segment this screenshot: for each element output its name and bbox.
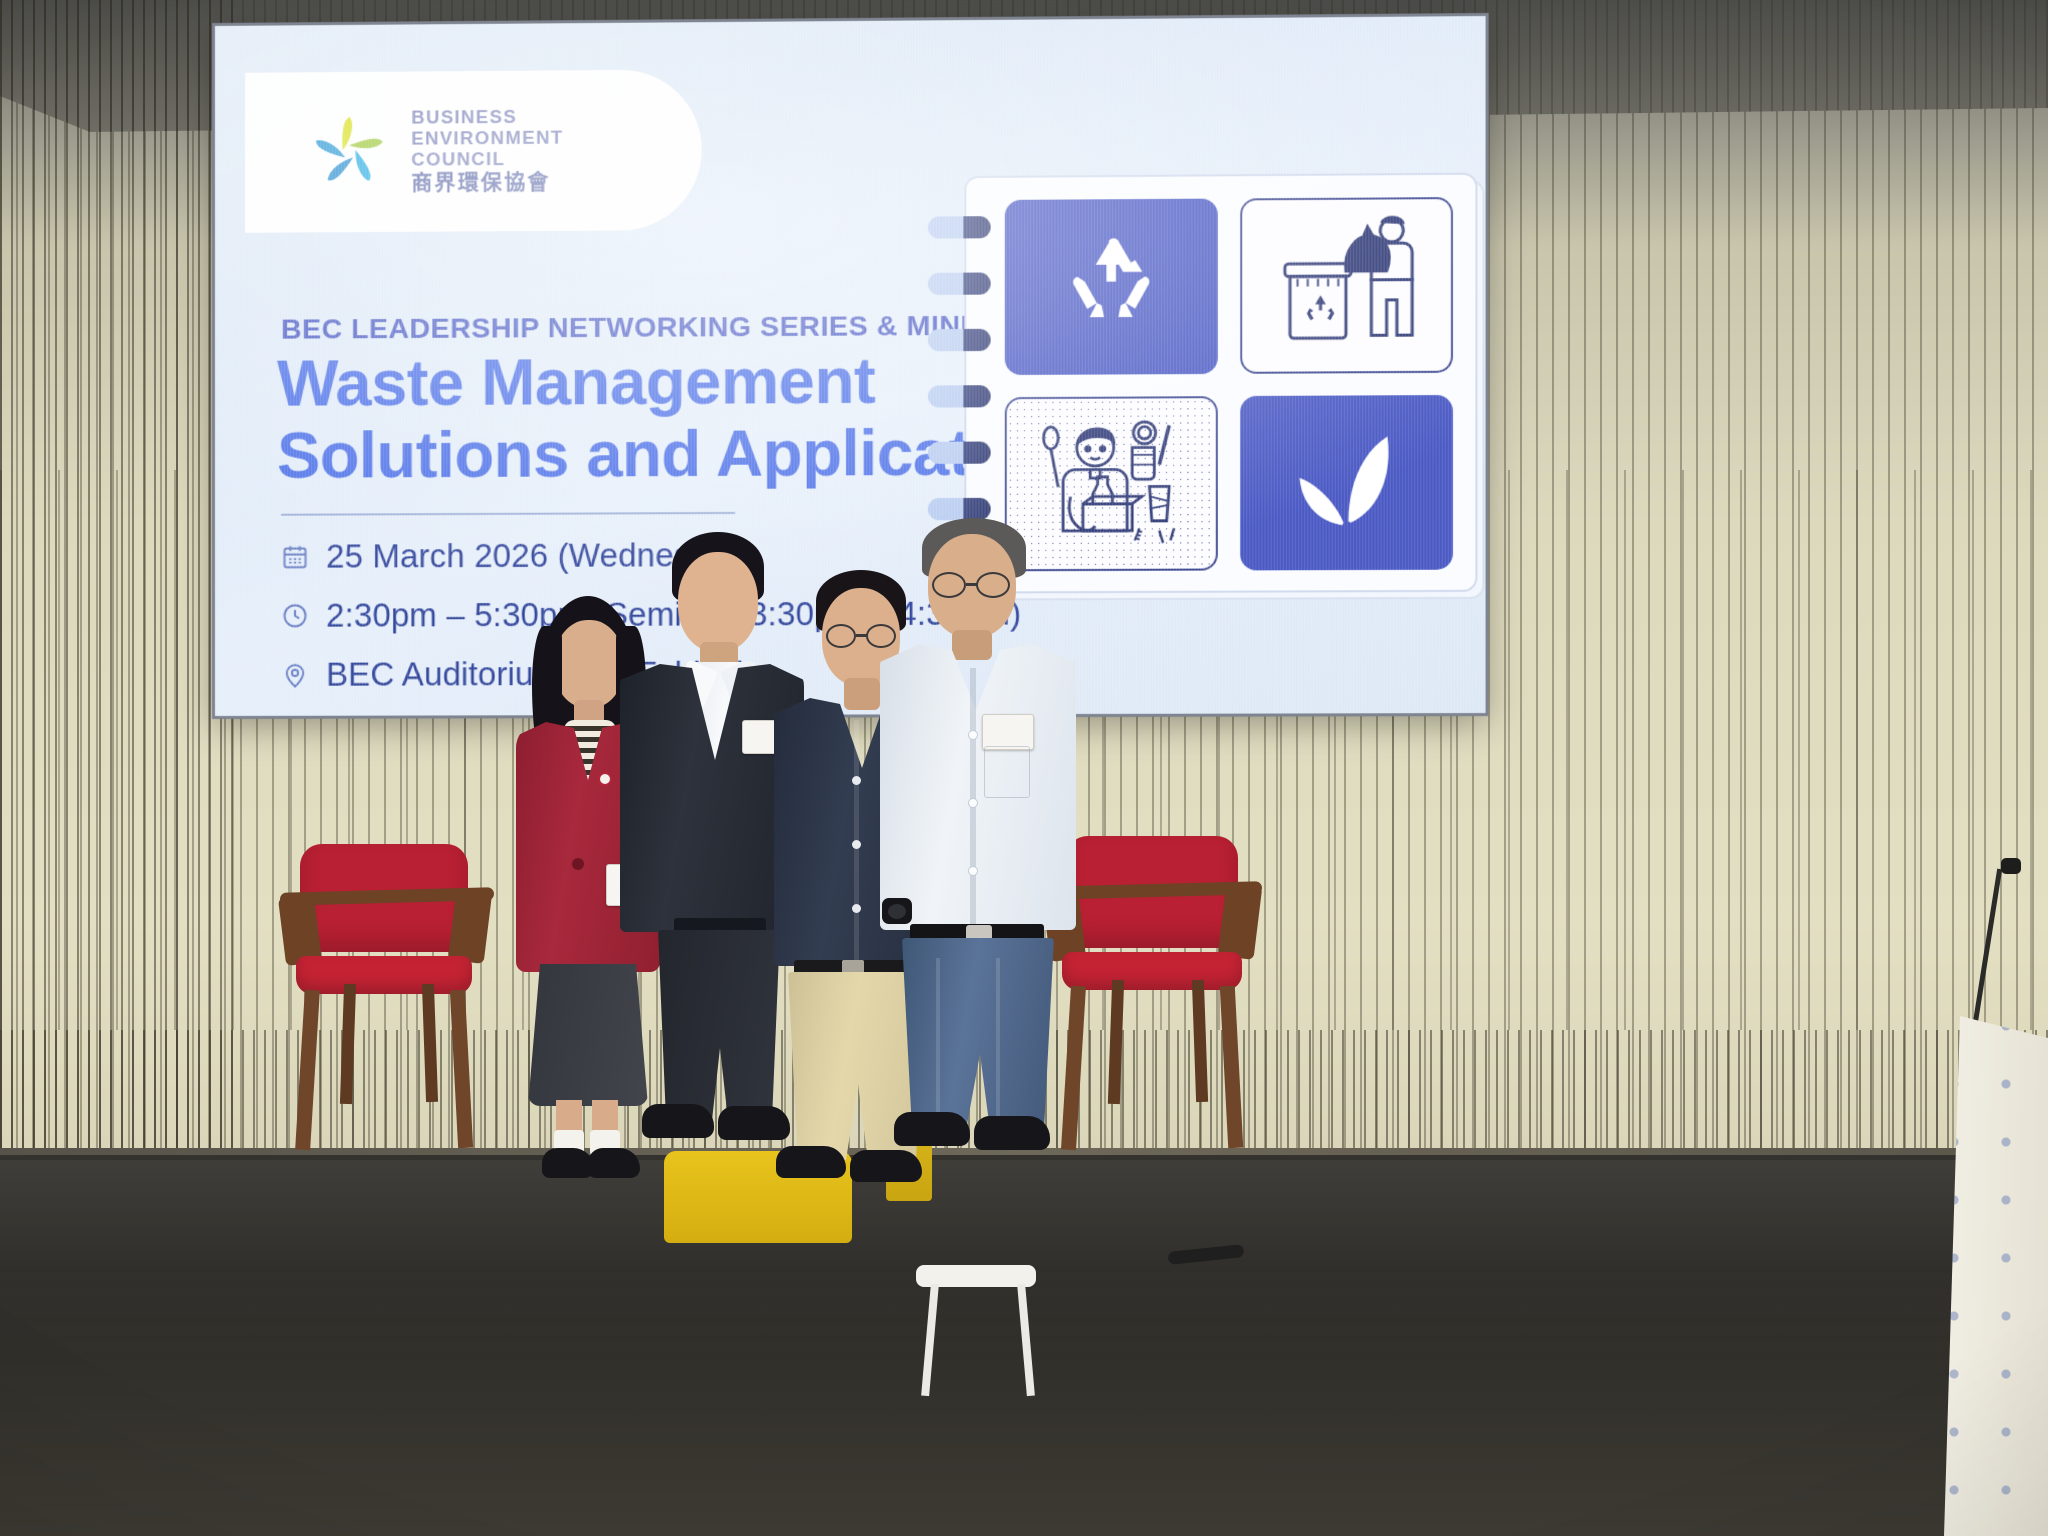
person-4-man-white-shirt <box>878 518 1078 1158</box>
person-4-shoe-left <box>894 1112 970 1146</box>
photo-scene: BUSINESS ENVIRONMENT COUNCIL 商界環保協會 BEC … <box>0 0 2048 1536</box>
ring-2 <box>928 272 991 294</box>
person-1-shoe-left <box>542 1148 594 1178</box>
notebook-spiral-rings <box>928 216 991 520</box>
logo-line-2: ENVIRONMENT <box>411 127 563 149</box>
ring-1 <box>928 216 991 239</box>
ring-3 <box>928 329 991 351</box>
bec-logo-wordmark: BUSINESS ENVIRONMENT COUNCIL 商界環保協會 <box>411 106 563 196</box>
recycle-symbol-icon <box>1051 224 1171 349</box>
bec-logo-lockup: BUSINESS ENVIRONMENT COUNCIL 商界環保協會 <box>245 69 702 232</box>
chair-left <box>276 844 494 1154</box>
panel-person-bin <box>1240 197 1453 373</box>
person-1-lapel-pin <box>598 772 612 786</box>
person-4-glasses-left <box>932 572 966 598</box>
logo-line-1: BUSINESS <box>411 106 563 128</box>
notebook-panel-grid <box>1005 197 1453 571</box>
person-3-glasses-left <box>826 624 856 648</box>
clock-icon <box>281 602 309 630</box>
person-2-trousers <box>658 930 780 1120</box>
location-pin-icon <box>281 661 309 689</box>
podium-microphone-head-icon <box>2001 858 2021 874</box>
ring-4 <box>928 385 991 407</box>
person-2-shoe-left <box>642 1104 714 1138</box>
person-4-dress-shirt <box>880 644 1076 930</box>
panel-leaves <box>1240 394 1453 570</box>
slide-divider <box>281 512 735 516</box>
panel-recycle-symbol <box>1005 199 1217 375</box>
person-throwing-trash-bag-icon <box>1270 213 1423 358</box>
person-4-jeans <box>902 938 1054 1130</box>
wall-left-return <box>0 0 240 1160</box>
person-4-name-badge <box>982 714 1034 750</box>
lectern <box>1944 1016 2048 1536</box>
logo-line-chinese: 商界環保協會 <box>411 171 563 196</box>
person-3-shoe-left <box>776 1146 846 1178</box>
lectern-logo-pattern <box>1944 1016 2048 1536</box>
two-leaves-icon <box>1285 419 1407 546</box>
logo-line-3: COUNCIL <box>411 148 563 170</box>
person-4-shoe-right <box>974 1116 1050 1150</box>
calendar-icon <box>281 543 309 571</box>
person-4-glasses-right <box>976 572 1010 598</box>
bec-pinwheel-logo-icon <box>307 110 391 195</box>
person-2-head <box>678 552 758 652</box>
ring-6 <box>928 498 991 520</box>
ring-5 <box>928 442 991 464</box>
